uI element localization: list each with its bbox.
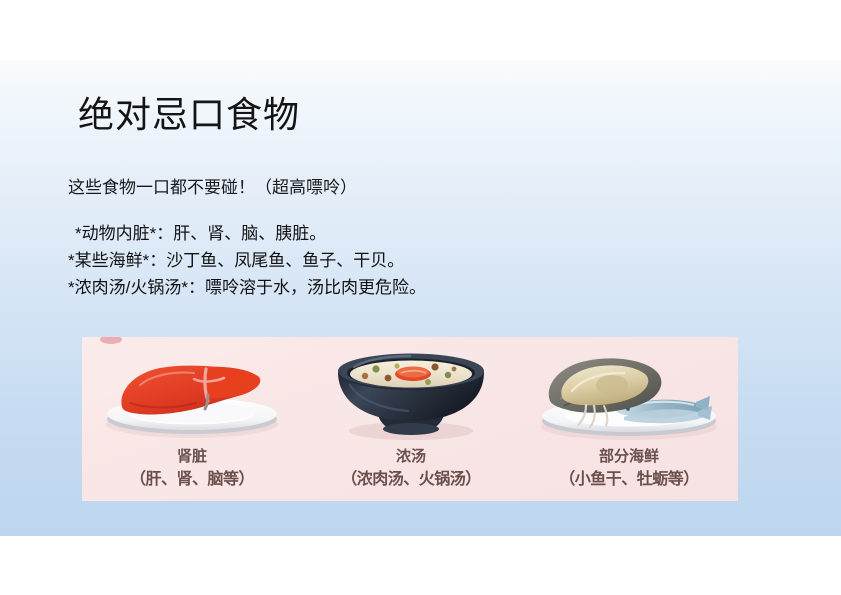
picture-cell-broth: 浓汤 （浓肉汤、火锅汤） [302, 337, 520, 501]
slide-subtitle: 这些食物一口都不要碰！（超高嘌呤） [68, 177, 357, 200]
caption-main-broth: 浓汤 [302, 445, 520, 466]
bullet-item-organ-meats: *动物内脏*：肝、肾、脑、胰脏。 [68, 220, 768, 247]
slide: 绝对忌口食物 这些食物一口都不要碰！（超高嘌呤） *动物内脏*：肝、肾、脑、胰脏… [0, 60, 841, 536]
picture-cell-organ-meats: 肾脏 （肝、肾、脑等） [82, 337, 302, 501]
food-illustration-image: 肾脏 （肝、肾、脑等） [82, 337, 738, 501]
caption-sub-seafood: （小鱼干、牡蛎等） [520, 465, 738, 489]
caption-sub-organ-meats: （肝、肾、脑等） [82, 465, 302, 489]
picture-cell-seafood: 部分海鲜 （小鱼干、牡蛎等） [520, 337, 738, 501]
bullet-item-broth: *浓肉汤/火锅汤*：嘌呤溶于水，汤比肉更危险。 [68, 274, 768, 301]
page-canvas: 绝对忌口食物 这些食物一口都不要碰！（超高嘌呤） *动物内脏*：肝、肾、脑、胰脏… [0, 0, 841, 595]
bullet-list: *动物内脏*：肝、肾、脑、胰脏。 *某些海鲜*：沙丁鱼、凤尾鱼、鱼子、干贝。 *… [68, 220, 768, 301]
page-title: 绝对忌口食物 [78, 93, 300, 136]
soup-bowl-icon [302, 341, 520, 445]
oyster-and-fish-on-plate-icon [520, 341, 738, 445]
caption-main-organ-meats: 肾脏 [82, 445, 302, 466]
caption-main-seafood: 部分海鲜 [520, 445, 738, 466]
bullet-item-seafood: *某些海鲜*：沙丁鱼、凤尾鱼、鱼子、干贝。 [68, 247, 768, 274]
caption-sub-broth: （浓肉汤、火锅汤） [302, 465, 520, 489]
liver-on-plate-icon [82, 341, 302, 445]
